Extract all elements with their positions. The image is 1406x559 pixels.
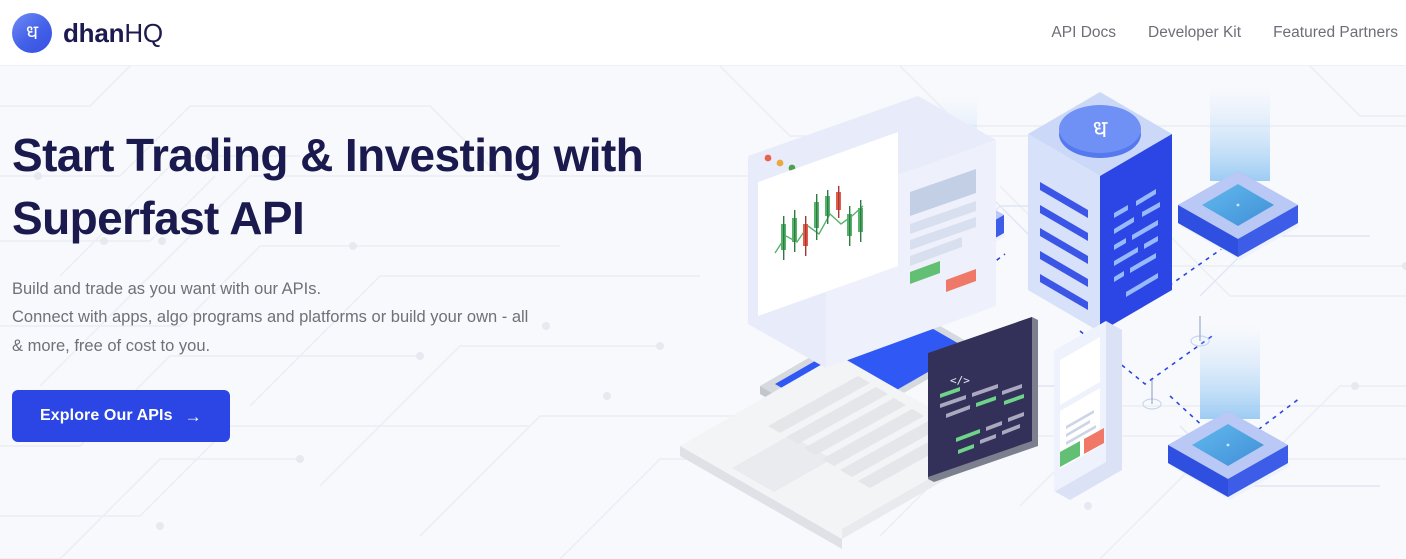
- server-tower: ध: [1028, 92, 1172, 332]
- arrow-right-icon: →: [185, 408, 202, 425]
- hero-subtext: Build and trade as you want with our API…: [12, 275, 712, 360]
- hero-isometric-illustration: ध: [640, 66, 1406, 559]
- brand-name-light: HQ: [124, 18, 163, 48]
- nav-item-featured-partners[interactable]: Featured Partners: [1257, 24, 1402, 42]
- subtext-line-2: Connect with apps, algo programs and pla…: [12, 303, 712, 331]
- headline-line-1: Start Trading & Investing with: [12, 124, 712, 187]
- chart-window-card: [748, 96, 996, 368]
- dhan-logo-icon: ध: [12, 13, 52, 53]
- code-glyph: </>: [950, 374, 970, 387]
- phone-mockup: [1054, 321, 1122, 500]
- brand-name-bold: dhan: [63, 18, 124, 48]
- floating-platform-bottomright: [1168, 324, 1290, 500]
- page-title: Start Trading & Investing with Superfast…: [12, 124, 712, 251]
- nav-item-api-docs[interactable]: API Docs: [1035, 24, 1132, 42]
- hero-section: Start Trading & Investing with Superfast…: [0, 66, 1406, 559]
- brand-logo[interactable]: ध dhanHQ: [12, 13, 163, 53]
- subtext-line-1: Build and trade as you want with our API…: [12, 275, 712, 303]
- headline-line-2: Superfast API: [12, 187, 712, 250]
- explore-apis-button[interactable]: Explore Our APIs →: [12, 390, 230, 442]
- server-logo-glyph: ध: [1093, 115, 1109, 143]
- subtext-line-3: & more, free of cost to you.: [12, 332, 712, 360]
- explore-apis-label: Explore Our APIs: [40, 407, 173, 425]
- main-nav: API Docs Developer Kit Featured Partners: [1035, 0, 1406, 66]
- brand-name: dhanHQ: [63, 18, 163, 49]
- logo-glyph: ध: [26, 22, 38, 42]
- page-root: ध dhanHQ API Docs Developer Kit Featured…: [0, 0, 1406, 559]
- hero-copy: Start Trading & Investing with Superfast…: [12, 124, 712, 442]
- nav-item-developer-kit[interactable]: Developer Kit: [1132, 24, 1257, 42]
- site-header: ध dhanHQ API Docs Developer Kit Featured…: [0, 0, 1406, 66]
- floating-platform-topright: [1178, 86, 1300, 260]
